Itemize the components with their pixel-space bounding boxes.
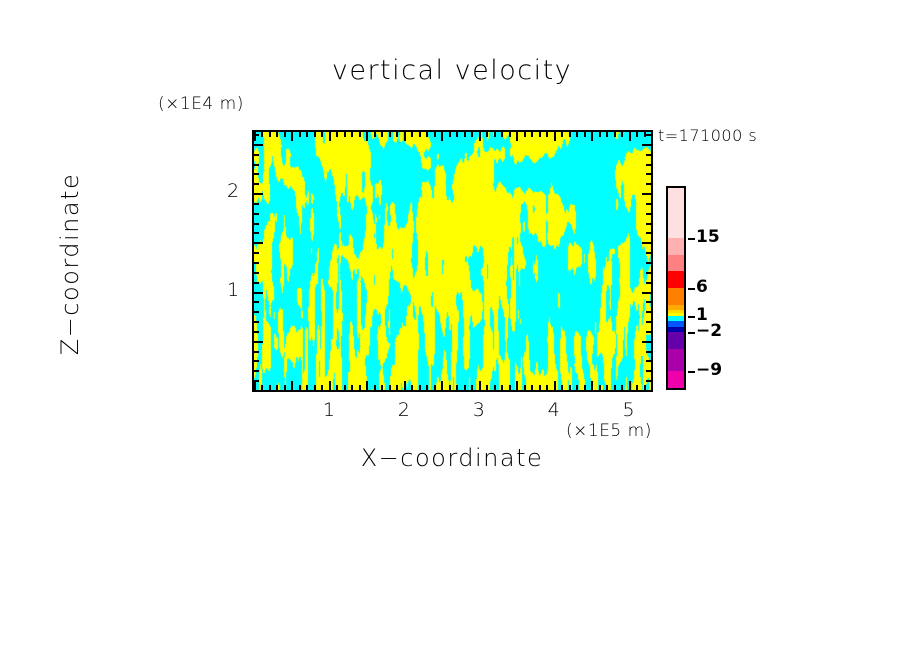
colorbar-band-11 xyxy=(668,332,684,349)
x-axis-tick xyxy=(561,132,563,137)
x-axis-tick xyxy=(456,132,458,137)
x-axis-tick xyxy=(269,385,271,390)
x-axis-tick xyxy=(299,385,301,390)
x-axis-tick xyxy=(516,381,518,390)
x-axis-tick xyxy=(569,385,571,390)
y-axis-tick xyxy=(254,232,259,234)
vertical-velocity-field xyxy=(254,132,651,390)
x-axis-tick xyxy=(441,381,443,390)
x-axis-tick xyxy=(651,132,653,137)
x-axis-tick xyxy=(329,381,331,390)
x-axis-tick xyxy=(614,385,616,390)
y-axis-tick xyxy=(254,144,263,146)
y-axis-tick xyxy=(254,292,263,294)
x-axis-tick xyxy=(486,385,488,390)
y-axis-tick xyxy=(254,272,259,274)
x-axis-tick xyxy=(606,385,608,390)
x-axis-tick xyxy=(411,385,413,390)
colorbar-band-1 xyxy=(668,238,684,255)
x-axis-label: X−coordinate xyxy=(0,444,904,472)
colorbar-band-2 xyxy=(668,255,684,272)
y-axis-tick xyxy=(646,321,651,323)
x-axis-tick xyxy=(576,385,578,390)
y-axis-tick xyxy=(254,193,263,195)
y-axis-tick xyxy=(254,351,259,353)
x-axis-tick xyxy=(269,132,271,137)
x-axis-tick xyxy=(359,132,361,137)
x-axis-tick xyxy=(494,385,496,390)
x-axis-tick xyxy=(486,132,488,137)
x-axis-tick xyxy=(299,132,301,137)
y-axis-tick xyxy=(254,311,259,313)
y-axis-tick xyxy=(254,252,259,254)
x-axis-tick xyxy=(531,132,533,137)
colorbar-tick-4 xyxy=(688,371,695,373)
x-axis-tick xyxy=(561,385,563,390)
x-axis-tick xyxy=(351,385,353,390)
x-axis-tick xyxy=(501,132,503,137)
x-axis-tick xyxy=(599,132,601,137)
x-axis-tick xyxy=(389,132,391,137)
x-axis-tick xyxy=(374,132,376,137)
x-axis-tick xyxy=(426,132,428,137)
x-axis-tick xyxy=(584,385,586,390)
y-axis-tick xyxy=(254,390,263,392)
y-axis-tick xyxy=(254,154,259,156)
y-axis-tick xyxy=(254,223,259,225)
y-axis-tick xyxy=(642,341,651,343)
x-axis-tick xyxy=(336,385,338,390)
y-axis-tick xyxy=(646,173,651,175)
x-axis-tick xyxy=(284,132,286,137)
x-axis-tick xyxy=(576,132,578,137)
x-axis-tick xyxy=(629,132,631,141)
x-axis-tick xyxy=(366,132,368,141)
y-axis-tick xyxy=(642,242,651,244)
y-axis-tick xyxy=(254,203,259,205)
y-axis-tick xyxy=(646,360,651,362)
x-axis-tick xyxy=(554,381,556,390)
x-axis-tick xyxy=(501,385,503,390)
y-axis-tick xyxy=(642,193,651,195)
x-axis-tick xyxy=(284,385,286,390)
y-axis-tick xyxy=(254,164,259,166)
x-axis-tick xyxy=(516,132,518,141)
y-axis-tick xyxy=(646,213,651,215)
x-axis-tick xyxy=(336,132,338,137)
y-axis-tick xyxy=(646,331,651,333)
y-axis-tick xyxy=(646,252,651,254)
x-axis-tick xyxy=(591,132,593,141)
x-axis-tick xyxy=(636,132,638,137)
x-axis-tick xyxy=(344,132,346,137)
x-axis-tick xyxy=(434,132,436,137)
chart-title: vertical velocity xyxy=(0,55,904,86)
y-axis-units: (×1E4 m) xyxy=(158,94,244,114)
x-axis-tick xyxy=(359,385,361,390)
x-axis-tick xyxy=(389,385,391,390)
y-axis-tick xyxy=(646,134,651,136)
y-tick-label-1: 1 xyxy=(227,279,239,301)
colorbar-tick-3 xyxy=(688,332,695,334)
y-axis-tick xyxy=(642,292,651,294)
colorbar-band-3 xyxy=(668,271,684,288)
colorbar-tick-1 xyxy=(688,288,695,290)
x-axis-tick xyxy=(651,385,653,390)
y-axis-tick xyxy=(254,282,259,284)
x-axis-tick xyxy=(621,132,623,137)
x-axis-tick xyxy=(456,385,458,390)
x-axis-tick xyxy=(306,132,308,137)
x-axis-tick xyxy=(441,132,443,141)
x-axis-tick xyxy=(261,132,263,137)
x-axis-tick xyxy=(254,381,256,390)
y-axis-tick xyxy=(646,164,651,166)
colorbar-band-12 xyxy=(668,349,684,371)
x-axis-tick xyxy=(306,385,308,390)
y-axis-tick xyxy=(646,370,651,372)
x-axis-tick xyxy=(426,385,428,390)
y-axis-tick xyxy=(254,134,259,136)
x-axis-tick xyxy=(584,132,586,137)
y-axis-tick xyxy=(254,370,259,372)
y-axis-tick xyxy=(646,282,651,284)
colorbar-band-0 xyxy=(668,188,684,238)
y-axis-tick xyxy=(254,380,259,382)
x-axis-tick xyxy=(464,132,466,137)
x-axis-tick xyxy=(291,132,293,141)
colorbar-tick-0 xyxy=(688,238,695,240)
y-axis-label: Z−coordinate xyxy=(56,134,84,394)
x-axis-tick xyxy=(539,132,541,137)
colorbar-label-−9: −9 xyxy=(696,360,722,380)
x-axis-tick xyxy=(374,385,376,390)
y-axis-tick xyxy=(646,223,651,225)
x-axis-tick xyxy=(621,385,623,390)
y-axis-tick xyxy=(646,351,651,353)
x-axis-tick xyxy=(314,385,316,390)
x-axis-tick xyxy=(314,132,316,137)
x-axis-tick xyxy=(411,132,413,137)
y-axis-tick xyxy=(254,173,259,175)
x-axis-tick xyxy=(321,132,323,137)
x-axis-tick xyxy=(329,132,331,141)
x-axis-tick xyxy=(614,132,616,137)
y-axis-tick xyxy=(254,321,259,323)
y-axis-tick xyxy=(646,262,651,264)
x-axis-tick xyxy=(366,381,368,390)
x-axis-tick xyxy=(419,132,421,137)
x-axis-tick xyxy=(381,385,383,390)
y-axis-tick xyxy=(646,272,651,274)
x-axis-tick xyxy=(539,385,541,390)
y-axis-tick xyxy=(642,144,651,146)
x-axis-tick xyxy=(479,381,481,390)
x-axis-tick xyxy=(291,381,293,390)
x-axis-tick xyxy=(471,385,473,390)
x-axis-tick xyxy=(464,385,466,390)
x-tick-label-5: 5 xyxy=(623,399,635,421)
colorbar-label-15: 15 xyxy=(696,227,720,247)
colorbar xyxy=(666,186,686,390)
timestamp-annotation: t=171000 s xyxy=(658,126,757,145)
x-axis-tick xyxy=(449,385,451,390)
x-axis-units: (×1E5 m) xyxy=(566,421,652,441)
x-axis-tick xyxy=(554,132,556,141)
y-axis-tick xyxy=(646,301,651,303)
x-axis-tick xyxy=(449,132,451,137)
x-tick-label-3: 3 xyxy=(473,399,485,421)
figure: vertical velocity (×1E4 m) t=171000 s Z−… xyxy=(0,0,904,654)
y-axis-tick xyxy=(254,331,259,333)
x-axis-tick xyxy=(404,132,406,141)
colorbar-band-4 xyxy=(668,288,684,305)
x-axis-tick xyxy=(276,132,278,137)
x-axis-tick xyxy=(509,132,511,137)
x-axis-tick xyxy=(419,385,421,390)
x-axis-tick xyxy=(321,385,323,390)
x-axis-tick xyxy=(471,132,473,137)
x-axis-tick xyxy=(531,385,533,390)
x-axis-tick xyxy=(344,385,346,390)
x-axis-tick xyxy=(509,385,511,390)
x-axis-tick xyxy=(629,381,631,390)
y-axis-tick xyxy=(254,301,259,303)
y-axis-tick xyxy=(646,380,651,382)
y-axis-tick xyxy=(254,341,263,343)
y-axis-tick xyxy=(254,183,259,185)
x-axis-tick xyxy=(569,132,571,137)
x-axis-tick xyxy=(404,381,406,390)
x-axis-tick xyxy=(396,132,398,137)
x-axis-tick xyxy=(434,385,436,390)
x-axis-tick xyxy=(396,385,398,390)
y-tick-label-2: 2 xyxy=(227,180,239,202)
y-axis-tick xyxy=(642,390,651,392)
x-tick-label-1: 1 xyxy=(323,399,335,421)
colorbar-label-−2: −2 xyxy=(696,321,722,341)
plot-area xyxy=(252,130,653,392)
x-tick-label-4: 4 xyxy=(548,399,560,421)
x-axis-tick xyxy=(636,385,638,390)
y-axis-tick xyxy=(254,360,259,362)
x-axis-tick xyxy=(351,132,353,137)
x-axis-tick xyxy=(494,132,496,137)
x-axis-tick xyxy=(479,132,481,141)
y-axis-tick xyxy=(254,213,259,215)
x-axis-tick xyxy=(599,385,601,390)
x-axis-tick xyxy=(524,132,526,137)
colorbar-label-6: 6 xyxy=(696,277,708,297)
x-axis-tick xyxy=(524,385,526,390)
colorbar-tick-2 xyxy=(688,316,695,318)
x-axis-tick xyxy=(606,132,608,137)
y-axis-tick xyxy=(646,203,651,205)
y-axis-tick xyxy=(254,262,259,264)
x-axis-tick xyxy=(381,132,383,137)
y-axis-tick xyxy=(646,232,651,234)
colorbar-band-13 xyxy=(668,371,684,388)
y-axis-tick xyxy=(646,154,651,156)
y-axis-tick xyxy=(646,311,651,313)
x-axis-tick xyxy=(546,132,548,137)
x-axis-tick xyxy=(546,385,548,390)
y-axis-tick xyxy=(254,242,263,244)
y-axis-tick xyxy=(646,183,651,185)
x-axis-tick xyxy=(276,385,278,390)
x-tick-label-2: 2 xyxy=(398,399,410,421)
x-axis-tick xyxy=(591,381,593,390)
